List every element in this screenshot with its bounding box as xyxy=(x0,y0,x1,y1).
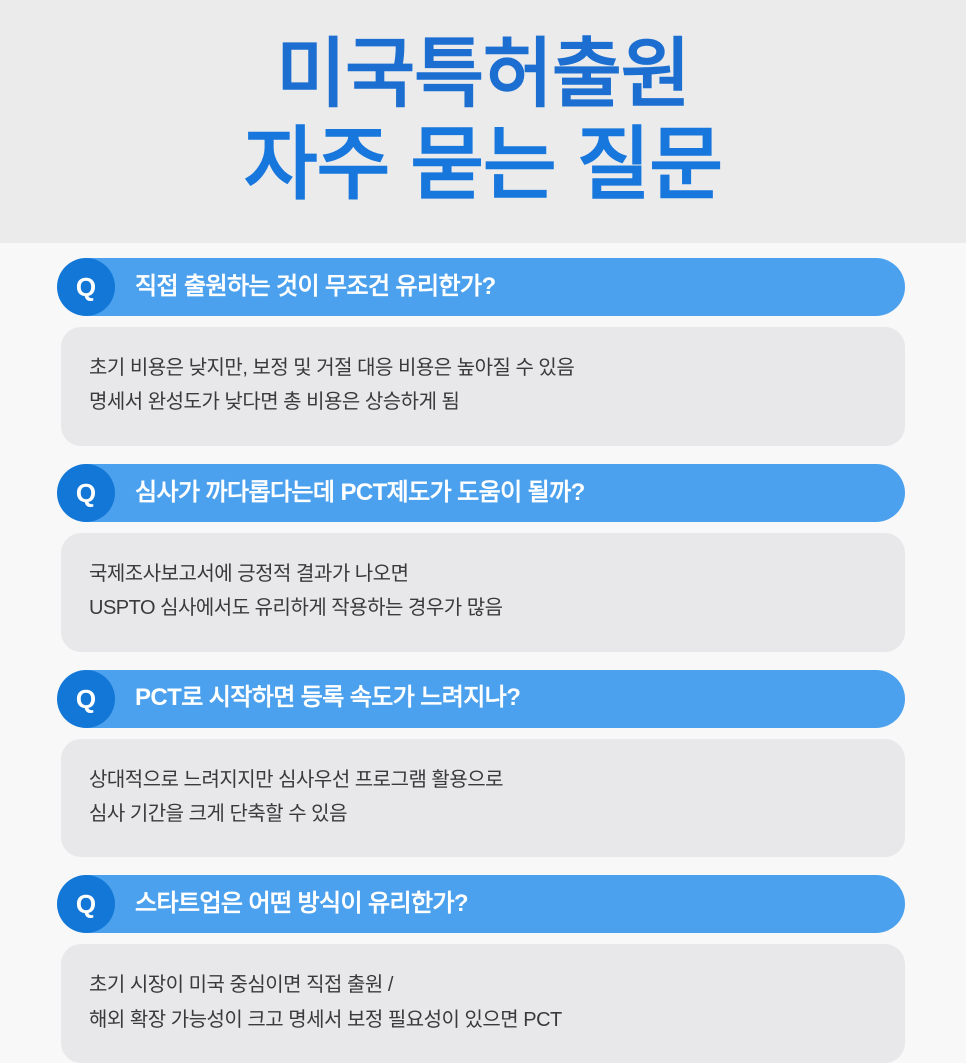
question-badge-icon: Q xyxy=(57,464,115,522)
faq-question-text: 직접 출원하는 것이 무조건 유리한가? xyxy=(135,274,496,300)
faq-answer-line: USPTO 심사에서도 유리하게 작용하는 경우가 많음 xyxy=(89,591,877,625)
question-badge-icon: Q xyxy=(57,670,115,728)
question-badge-icon: Q xyxy=(57,875,115,933)
page-title-line-2: 자주 묻는 질문 xyxy=(244,123,722,208)
faq-answer-line: 초기 시장이 미국 중심이면 직접 출원 / xyxy=(89,968,877,1002)
faq-answer-line: 국제조사보고서에 긍정적 결과가 나오면 xyxy=(89,557,877,591)
faq-list: Q 직접 출원하는 것이 무조건 유리한가? 초기 비용은 낮지만, 보정 및 … xyxy=(0,243,966,966)
faq-item: Q PCT로 시작하면 등록 속도가 느려지나? 상대적으로 느려지지만 심사우… xyxy=(57,670,905,858)
faq-question-text: 스타트업은 어떤 방식이 유리한가? xyxy=(135,891,468,917)
faq-item: Q 스타트업은 어떤 방식이 유리한가? 초기 시장이 미국 중심이면 직접 출… xyxy=(57,875,905,1063)
faq-question-bar[interactable]: Q 스타트업은 어떤 방식이 유리한가? xyxy=(61,875,905,933)
faq-answer-line: 상대적으로 느려지지만 심사우선 프로그램 활용으로 xyxy=(89,763,877,797)
faq-answer-line: 초기 비용은 낮지만, 보정 및 거절 대응 비용은 높아질 수 있음 xyxy=(89,351,877,385)
faq-answer-line: 명세서 완성도가 낮다면 총 비용은 상승하게 됨 xyxy=(89,385,877,419)
faq-answer-box: 초기 비용은 낮지만, 보정 및 거절 대응 비용은 높아질 수 있음 명세서 … xyxy=(61,327,905,446)
faq-question-bar[interactable]: Q 직접 출원하는 것이 무조건 유리한가? xyxy=(61,258,905,316)
faq-question-bar[interactable]: Q 심사가 까다롭다는데 PCT제도가 도움이 될까? xyxy=(61,464,905,522)
faq-question-text: PCT로 시작하면 등록 속도가 느려지나? xyxy=(135,685,520,711)
question-badge-icon: Q xyxy=(57,258,115,316)
faq-answer-box: 초기 시장이 미국 중심이면 직접 출원 / 해외 확장 가능성이 크고 명세서… xyxy=(61,944,905,1063)
faq-answer-line: 심사 기간을 크게 단축할 수 있음 xyxy=(89,797,877,831)
faq-answer-box: 상대적으로 느려지지만 심사우선 프로그램 활용으로 심사 기간을 크게 단축할… xyxy=(61,739,905,858)
page-title-line-1: 미국특허출원 xyxy=(276,35,690,116)
faq-question-bar[interactable]: Q PCT로 시작하면 등록 속도가 느려지나? xyxy=(61,670,905,728)
faq-item: Q 심사가 까다롭다는데 PCT제도가 도움이 될까? 국제조사보고서에 긍정적… xyxy=(57,464,905,652)
faq-question-text: 심사가 까다롭다는데 PCT제도가 도움이 될까? xyxy=(135,480,585,506)
faq-item: Q 직접 출원하는 것이 무조건 유리한가? 초기 비용은 낮지만, 보정 및 … xyxy=(57,258,905,446)
faq-answer-box: 국제조사보고서에 긍정적 결과가 나오면 USPTO 심사에서도 유리하게 작용… xyxy=(61,533,905,652)
header-banner: 미국특허출원 자주 묻는 질문 xyxy=(0,0,966,243)
faq-answer-line: 해외 확장 가능성이 크고 명세서 보정 필요성이 있으면 PCT xyxy=(89,1003,877,1037)
infographic-page: 미국특허출원 자주 묻는 질문 Q 직접 출원하는 것이 무조건 유리한가? 초… xyxy=(0,0,966,966)
